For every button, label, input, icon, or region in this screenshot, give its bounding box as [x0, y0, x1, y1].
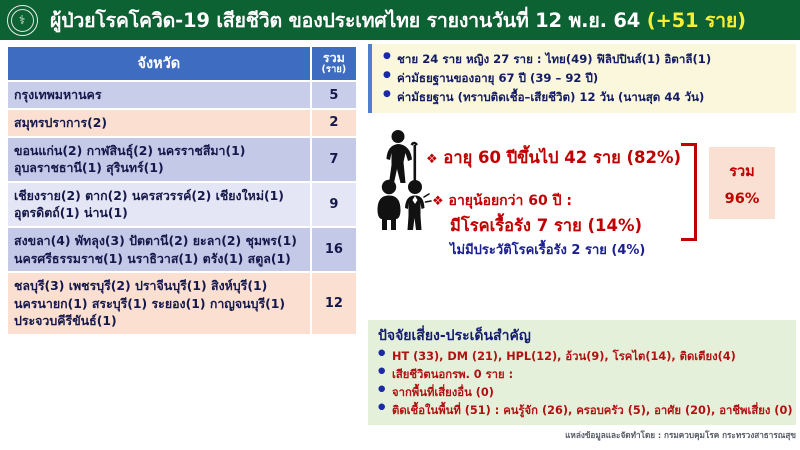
province-table: จังหวัด รวม (ราย) กรุงเทพมหานคร5สมุทรปรา…: [6, 45, 358, 336]
risk-factors-list: HT (33), DM (21), HPL(12), อ้วน(9), โรคไ…: [378, 348, 788, 419]
total-cell: 7: [312, 138, 356, 181]
age-over-60-line: ❖ อายุ 60 ปีขึ้นไป 42 ราย (82%): [426, 145, 681, 171]
infographic-root: ⚕ ผู้ป่วยโรคโควิด-19 เสียชีวิต ของประเทศ…: [0, 0, 800, 450]
right-column: ชาย 24 ราย หญิง 27 ราย : ไทย(49) ฟิลิปปิ…: [368, 44, 796, 263]
province-line: ขอนแก่น(2) กาฬสินธุ์(2) นครราชสีมา(1): [14, 142, 304, 160]
province-cell: สงขลา(4) พัทลุง(3) ปัตตานี(2) ยะลา(2) ชุ…: [8, 228, 310, 271]
column-header-total-label: รวม: [323, 50, 345, 65]
table-row: ชลบุรี(3) เพชรบุรี(2) ปราจีนบุรี(1) สิงห…: [8, 273, 356, 334]
age-under-60-line: ❖ อายุน้อยกว่า 60 ปี :: [432, 190, 572, 212]
province-cell: เชียงราย(2) ตาก(2) นครสวรรค์(2) เชียงใหม…: [8, 183, 310, 226]
province-line: นครนายก(1) สระบุรี(1) ระยอง(1) กาญจนบุรี…: [14, 295, 304, 313]
list-item: ติดเชื้อในพื้นที่ (51) : คนรู้จัก (26), …: [378, 402, 788, 420]
page-title: ผู้ป่วยโรคโควิด-19 เสียชีวิต ของประเทศไท…: [50, 5, 800, 36]
province-cell: สมุทรปราการ(2): [8, 110, 310, 136]
table-row: กรุงเทพมหานคร5: [8, 82, 356, 108]
summary-facts-box: ชาย 24 ราย หญิง 27 ราย : ไทย(49) ฟิลิปปิ…: [368, 44, 796, 113]
province-line: สมุทรปราการ(2): [14, 114, 304, 132]
table-row: สมุทรปราการ(2)2: [8, 110, 356, 136]
diamond-bullet-icon-2: ❖: [432, 194, 444, 209]
list-item: HT (33), DM (21), HPL(12), อ้วน(9), โรคไ…: [378, 348, 788, 366]
two-adults-icon: [374, 179, 432, 231]
page-title-highlight: (+51 ราย): [647, 9, 746, 32]
summary-facts-list: ชาย 24 ราย หญิง 27 ราย : ไทย(49) ฟิลิปปิ…: [382, 50, 788, 106]
column-header-total: รวม (ราย): [312, 47, 356, 80]
province-line: อุตรดิตถ์(1) น่าน(1): [14, 204, 304, 222]
total-cell: 16: [312, 228, 356, 271]
total-cell: 5: [312, 82, 356, 108]
list-item: เสียชีวิตนอกรพ. 0 ราย :: [378, 366, 788, 384]
age-breakdown-section: ❖ อายุ 60 ปีขึ้นไป 42 ราย (82%) ❖ อายุน้…: [368, 123, 796, 263]
total-value: 96%: [725, 191, 760, 207]
column-header-total-unit: (ราย): [314, 65, 354, 76]
list-item: จากพื้นที่เสี่ยงอื่น (0): [378, 384, 788, 402]
list-item: ค่ามัธยฐานของอายุ 67 ปี (39 – 92 ปี): [382, 69, 788, 88]
province-table-wrap: จังหวัด รวม (ราย) กรุงเทพมหานคร5สมุทรปรา…: [6, 45, 358, 336]
province-line: สงขลา(4) พัทลุง(3) ปัตตานี(2) ยะลา(2) ชุ…: [14, 232, 304, 250]
total-cell: 9: [312, 183, 356, 226]
province-line: ชลบุรี(3) เพชรบุรี(2) ปราจีนบุรี(1) สิงห…: [14, 277, 304, 295]
province-cell: กรุงเทพมหานคร: [8, 82, 310, 108]
table-row: สงขลา(4) พัทลุง(3) ปัตตานี(2) ยะลา(2) ชุ…: [8, 228, 356, 271]
province-line: เชียงราย(2) ตาก(2) นครสวรรค์(2) เชียงใหม…: [14, 187, 304, 205]
caduceus-icon: ⚕: [11, 9, 34, 32]
age-over-60-text: อายุ 60 ปีขึ้นไป 42 ราย (82%): [443, 148, 681, 167]
province-table-body: กรุงเทพมหานคร5สมุทรปราการ(2)2ขอนแก่น(2) …: [8, 82, 356, 334]
table-row: ขอนแก่น(2) กาฬสินธุ์(2) นครราชสีมา(1)อุบ…: [8, 138, 356, 181]
province-cell: ขอนแก่น(2) กาฬสินธุ์(2) นครราชสีมา(1)อุบ…: [8, 138, 310, 181]
risk-factors-box: ปัจจัยเสี่ยง-ประเด็นสำคัญ HT (33), DM (2…: [368, 320, 796, 425]
table-header-row: จังหวัด รวม (ราย): [8, 47, 356, 80]
diamond-bullet-icon: ❖: [426, 152, 438, 167]
total-cell: 2: [312, 110, 356, 136]
list-item: ชาย 24 ราย หญิง 27 ราย : ไทย(49) ฟิลิปปิ…: [382, 50, 788, 69]
total-label: รวม: [729, 160, 755, 183]
province-line: อุบลราชธานี(1) สุรินทร์(1): [14, 159, 304, 177]
table-row: เชียงราย(2) ตาก(2) นครสวรรค์(2) เชียงใหม…: [8, 183, 356, 226]
elderly-person-with-cane-icon: [378, 129, 424, 185]
province-line: กรุงเทพมหานคร: [14, 86, 304, 104]
column-header-province: จังหวัด: [8, 47, 310, 80]
grouping-bracket: [681, 143, 697, 241]
risk-factors-title: ปัจจัยเสี่ยง-ประเด็นสำคัญ: [378, 325, 788, 347]
source-credit: แหล่งข้อมูลและจัดทำโดย : กรมควบคุมโรค กร…: [368, 429, 796, 442]
province-cell: ชลบุรี(3) เพชรบุรี(2) ปราจีนบุรี(1) สิงห…: [8, 273, 310, 334]
ministry-logo: ⚕: [0, 0, 44, 40]
total-percentage-box: รวม 96%: [709, 147, 775, 219]
page-title-main: ผู้ป่วยโรคโควิด-19 เสียชีวิต ของประเทศไท…: [50, 9, 640, 32]
no-chronic-disease-line: ไม่มีประวัติโรคเรื้อรัง 2 ราย (4%): [450, 239, 645, 260]
province-line: นครศรีธรรมราช(1) นราธิวาส(1) ตรัง(1) สตู…: [14, 250, 304, 268]
list-item: ค่ามัธยฐาน (ทราบติดเชื้อ–เสียชีวิต) 12 ว…: [382, 88, 788, 107]
chronic-disease-line: มีโรคเรื้อรัง 7 ราย (14%): [450, 213, 642, 239]
total-cell: 12: [312, 273, 356, 334]
emblem-outer-ring: ⚕: [7, 5, 38, 36]
province-line: ประจวบคีรีขันธ์(1): [14, 312, 304, 330]
age-under-60-text: อายุน้อยกว่า 60 ปี :: [449, 193, 572, 209]
page-header: ⚕ ผู้ป่วยโรคโควิด-19 เสียชีวิต ของประเทศ…: [0, 0, 800, 40]
